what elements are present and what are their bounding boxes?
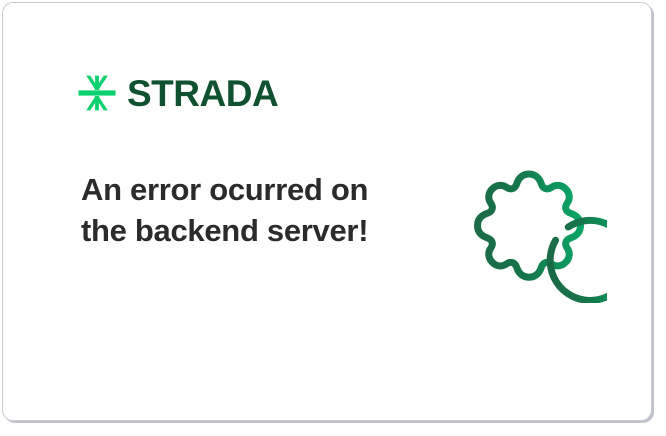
brand-wordmark: STRADA xyxy=(127,75,278,112)
brand-lockup: STRADA xyxy=(77,73,278,113)
error-message-heading: An error ocurred on the backend server! xyxy=(81,169,371,251)
strada-asterisk-icon xyxy=(77,73,117,113)
gear-cog-icon xyxy=(451,147,607,303)
error-card: STRADA An error ocurred on the backend s… xyxy=(2,2,652,421)
